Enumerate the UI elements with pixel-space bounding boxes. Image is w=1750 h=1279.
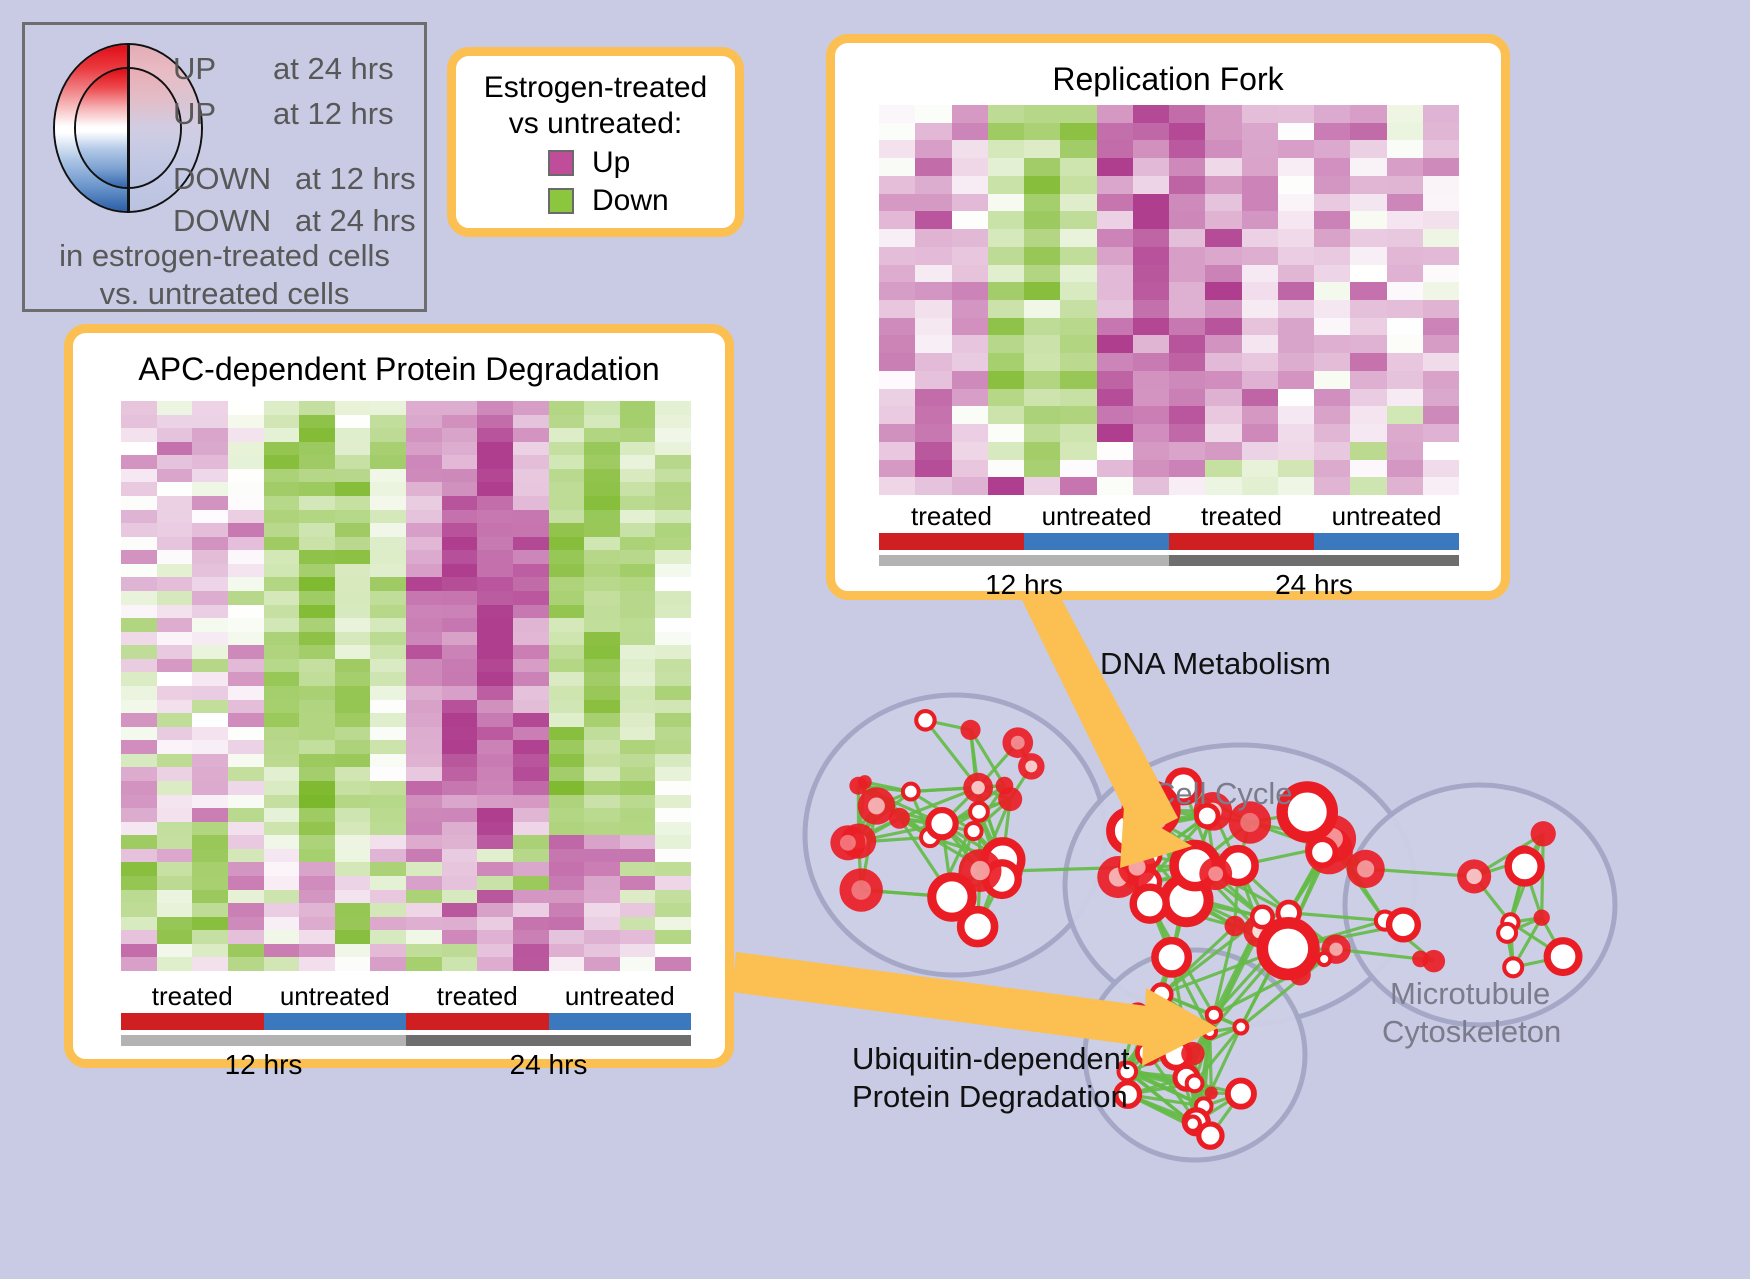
- heatmap-cell: [370, 849, 406, 863]
- network-node: [1531, 821, 1556, 846]
- heatmap-cell: [1097, 282, 1133, 300]
- network-node-ring: [1186, 1117, 1200, 1131]
- heatmap-cell: [1278, 389, 1314, 407]
- heatmap-cell: [620, 577, 656, 591]
- network-node-core: [1329, 943, 1342, 956]
- heatmap-cell: [157, 428, 193, 442]
- heatmap-cell: [121, 605, 157, 619]
- heatmap-cell: [620, 808, 656, 822]
- heatmap-cell: [1097, 247, 1133, 265]
- heatmap-cell: [584, 455, 620, 469]
- heatmap-cell: [335, 672, 371, 686]
- heatmap-cell: [1350, 300, 1386, 318]
- network-node-ring: [1199, 1124, 1222, 1147]
- heatmap-cell: [192, 727, 228, 741]
- rf-bar-treated-12: [879, 533, 1024, 550]
- heatmap-cell: [477, 496, 513, 510]
- network-node: [1205, 1086, 1218, 1099]
- heatmap-cell: [1387, 140, 1423, 158]
- network-node-ring: [1228, 1081, 1254, 1107]
- heatmap-cell: [192, 944, 228, 958]
- heatmap-cell: [620, 510, 656, 524]
- heatmap-cell: [264, 713, 300, 727]
- heatmap-cell: [335, 903, 371, 917]
- heatmap-cell: [1133, 460, 1169, 478]
- heatmap-cell: [620, 727, 656, 741]
- heatmap-cell: [655, 862, 691, 876]
- heatmap-cell: [121, 957, 157, 971]
- network-node-ring: [1137, 1042, 1158, 1063]
- heatmap-cell: [299, 415, 335, 429]
- network-node-ring: [970, 803, 988, 821]
- heatmap-cell: [655, 754, 691, 768]
- cmap-time-down-24: at 24 hrs: [295, 205, 416, 236]
- heatmap-cell: [442, 917, 478, 931]
- heatmap-cell: [549, 401, 585, 415]
- heatmap-cell: [121, 428, 157, 442]
- heatmap-cell: [1169, 176, 1205, 194]
- heatmap-cell: [406, 523, 442, 537]
- heatmap-cell: [264, 672, 300, 686]
- heatmap-cell: [121, 591, 157, 605]
- heatmap-cell: [1278, 371, 1314, 389]
- heatmap-cell: [1314, 194, 1350, 212]
- heatmap-cell: [655, 415, 691, 429]
- heatmap-cell: [477, 537, 513, 551]
- heatmap-cell: [1350, 123, 1386, 141]
- heatmap-cell: [1350, 389, 1386, 407]
- heatmap-cell: [1169, 335, 1205, 353]
- heatmap-cell: [1387, 194, 1423, 212]
- heatmap-cell: [157, 767, 193, 781]
- heatmap-cell: [442, 700, 478, 714]
- heatmap-cell: [477, 727, 513, 741]
- heatmap-cell: [879, 123, 915, 141]
- up-swatch-icon: [548, 150, 574, 176]
- network-node-core: [851, 880, 871, 900]
- heatmap-cell: [1133, 300, 1169, 318]
- heatmap-cell: [335, 550, 371, 564]
- network-node-ring: [1187, 1075, 1203, 1091]
- heatmap-cell: [1024, 140, 1060, 158]
- heatmap-cell: [1423, 460, 1459, 478]
- heatmap-cell: [879, 194, 915, 212]
- heatmap-cell: [1024, 105, 1060, 123]
- heatmap-cell: [406, 876, 442, 890]
- heatmap-cell: [121, 917, 157, 931]
- heatmap-cell: [477, 605, 513, 619]
- heatmap-cell: [620, 672, 656, 686]
- network-node-ring: [1318, 953, 1330, 965]
- heatmap-cell: [513, 415, 549, 429]
- heatmap-cell: [406, 510, 442, 524]
- rf-time-labels: 12 hrs 24 hrs: [879, 569, 1459, 601]
- heatmap-cell: [121, 727, 157, 741]
- heatmap-cell: [655, 727, 691, 741]
- heatmap-cell: [549, 645, 585, 659]
- heatmap-cell: [157, 659, 193, 673]
- heatmap-cell: [406, 727, 442, 741]
- heatmap-cell: [915, 460, 951, 478]
- heatmap-cell: [1024, 389, 1060, 407]
- heatmap-cell: [228, 415, 264, 429]
- heatmap-cell: [406, 537, 442, 551]
- heatmap-cell: [1205, 442, 1241, 460]
- heatmap-cell: [406, 754, 442, 768]
- heatmap-cell: [513, 455, 549, 469]
- heatmap-cell: [442, 523, 478, 537]
- heatmap-cell: [442, 428, 478, 442]
- heatmap-cell: [1242, 406, 1278, 424]
- heatmap-cell: [121, 401, 157, 415]
- heatmap-cell: [584, 727, 620, 741]
- cmap-state-up-12: UP: [173, 98, 216, 129]
- heatmap-cell: [406, 890, 442, 904]
- heatmap-cell: [513, 645, 549, 659]
- heatmap-cell: [1242, 318, 1278, 336]
- heatmap-cell: [620, 415, 656, 429]
- heatmap-cell: [620, 890, 656, 904]
- heatmap-cell: [620, 523, 656, 537]
- heatmap-cell: [299, 740, 335, 754]
- heatmap-cell: [655, 808, 691, 822]
- heatmap-cell: [157, 890, 193, 904]
- heatmap-cell: [1024, 371, 1060, 389]
- heatmap-cell: [1314, 335, 1350, 353]
- heatmap-cell: [513, 469, 549, 483]
- heatmap-cell: [442, 455, 478, 469]
- heatmap-cell: [1133, 194, 1169, 212]
- heatmap-cell: [1169, 353, 1205, 371]
- heatmap-cell: [299, 442, 335, 456]
- heatmap-cell: [121, 862, 157, 876]
- heatmap-cell: [299, 795, 335, 809]
- heatmap-cell: [1242, 371, 1278, 389]
- heatmap-cell: [1097, 477, 1133, 495]
- heatmap-cell: [1242, 265, 1278, 283]
- heatmap-cell: [620, 876, 656, 890]
- heatmap-cell: [1097, 335, 1133, 353]
- heatmap-cell: [549, 686, 585, 700]
- heatmap-cell: [477, 822, 513, 836]
- heatmap-cell: [1387, 424, 1423, 442]
- network-node-ring: [1262, 923, 1314, 975]
- heatmap-cell: [584, 944, 620, 958]
- heatmap-cell: [1278, 318, 1314, 336]
- heatmap-cell: [584, 672, 620, 686]
- heatmap-cell: [370, 591, 406, 605]
- heatmap-cell: [1423, 477, 1459, 495]
- heatmap-cell: [988, 158, 1024, 176]
- heatmap-cell: [584, 767, 620, 781]
- heatmap-cell: [1387, 300, 1423, 318]
- heatmap-cell: [442, 808, 478, 822]
- heatmap-cell: [192, 700, 228, 714]
- apc-bar-untreated-12: [264, 1013, 407, 1030]
- heatmap-cell: [406, 957, 442, 971]
- heatmap-cell: [1060, 105, 1096, 123]
- heatmap-cell: [584, 849, 620, 863]
- heatmap-cell: [442, 510, 478, 524]
- heatmap-cell: [157, 700, 193, 714]
- heatmap-cell: [952, 460, 988, 478]
- heatmap-cell: [1169, 371, 1205, 389]
- heatmap-cell: [915, 477, 951, 495]
- heatmap-cell: [406, 645, 442, 659]
- heatmap-cell: [1242, 335, 1278, 353]
- heatmap-cell: [1314, 371, 1350, 389]
- heatmap-cell: [192, 537, 228, 551]
- apc-bar-treated-12: [121, 1013, 264, 1030]
- heatmap-cell: [192, 442, 228, 456]
- heatmap-cell: [549, 564, 585, 578]
- heatmap-cell: [915, 371, 951, 389]
- heatmap-cell: [228, 659, 264, 673]
- heatmap-cell: [335, 523, 371, 537]
- heatmap-cell: [228, 510, 264, 524]
- heatmap-cell: [264, 510, 300, 524]
- heatmap-cell: [655, 903, 691, 917]
- heatmap-cell: [620, 849, 656, 863]
- heatmap-cell: [299, 849, 335, 863]
- heatmap-cell: [1278, 282, 1314, 300]
- heatmap-cell: [192, 903, 228, 917]
- heatmap-cell: [406, 455, 442, 469]
- heatmap-cell: [121, 632, 157, 646]
- heatmap-cell: [1278, 460, 1314, 478]
- heatmap-cell: [1169, 442, 1205, 460]
- heatmap-cell: [584, 482, 620, 496]
- heatmap-cell: [1060, 123, 1096, 141]
- heatmap-cell: [264, 605, 300, 619]
- heatmap-cell: [1278, 442, 1314, 460]
- heatmap-cell: [1387, 158, 1423, 176]
- heatmap-cell: [513, 686, 549, 700]
- heatmap-cell: [1242, 176, 1278, 194]
- heatmap-cell: [192, 401, 228, 415]
- estrogen-legend-panel: Estrogen-treated vs untreated: Up Down: [447, 47, 744, 237]
- heatmap-cell: [264, 822, 300, 836]
- heatmap-cell: [1278, 477, 1314, 495]
- heatmap-cell: [549, 659, 585, 673]
- heatmap-cell: [299, 890, 335, 904]
- heatmap-cell: [228, 957, 264, 971]
- heatmap-cell: [157, 442, 193, 456]
- heatmap-cell: [157, 917, 193, 931]
- apc-cond-1: untreated: [264, 981, 407, 1012]
- heatmap-cell: [1097, 389, 1133, 407]
- rf-time-bars: [879, 555, 1459, 566]
- network-node-core: [1466, 869, 1481, 884]
- heatmap-cell: [1350, 477, 1386, 495]
- heatmap-cell: [879, 442, 915, 460]
- heatmap-cell: [442, 862, 478, 876]
- heatmap-cell: [370, 808, 406, 822]
- heatmap-cell: [549, 455, 585, 469]
- heatmap-cell: [370, 795, 406, 809]
- heatmap-cell: [442, 415, 478, 429]
- apc-condition-labels: treated untreated treated untreated: [121, 981, 691, 1012]
- heatmap-cell: [406, 605, 442, 619]
- heatmap-cell: [620, 618, 656, 632]
- legend-label-up: Up: [592, 148, 630, 178]
- heatmap-cell: [988, 105, 1024, 123]
- heatmap-cell: [655, 496, 691, 510]
- heatmap-cell: [879, 265, 915, 283]
- heatmap-cell: [192, 835, 228, 849]
- heatmap-cell: [1097, 406, 1133, 424]
- heatmap-cell: [442, 605, 478, 619]
- heatmap-cell: [1387, 211, 1423, 229]
- network-node-ring: [916, 711, 934, 729]
- heatmap-cell: [228, 686, 264, 700]
- heatmap-cell: [1278, 194, 1314, 212]
- heatmap-cell: [1133, 442, 1169, 460]
- heatmap-cell: [406, 808, 442, 822]
- heatmap-cell: [121, 442, 157, 456]
- cluster-label-dna-metabolism: DNA Metabolism: [1100, 645, 1331, 683]
- heatmap-cell: [1097, 353, 1133, 371]
- heatmap-cell: [1278, 353, 1314, 371]
- heatmap-cell: [335, 808, 371, 822]
- heatmap-cell: [915, 335, 951, 353]
- heatmap-cell: [335, 862, 371, 876]
- heatmap-cell: [584, 754, 620, 768]
- heatmap-cell: [477, 781, 513, 795]
- heatmap-cell: [1242, 105, 1278, 123]
- heatmap-cell: [1423, 300, 1459, 318]
- network-node: [1225, 916, 1246, 937]
- heatmap-cell: [620, 537, 656, 551]
- heatmap-cell: [406, 917, 442, 931]
- heatmap-cell: [477, 930, 513, 944]
- heatmap-cell: [1350, 140, 1386, 158]
- heatmap-cell: [157, 550, 193, 564]
- cluster-label-cytoskeleton: Cytoskeleton: [1382, 1013, 1561, 1051]
- heatmap-cell: [192, 605, 228, 619]
- heatmap-cell: [620, 781, 656, 795]
- heatmap-cell: [1133, 176, 1169, 194]
- heatmap-cell: [121, 822, 157, 836]
- heatmap-cell: [513, 876, 549, 890]
- heatmap-cell: [406, 713, 442, 727]
- heatmap-cell: [879, 371, 915, 389]
- heatmap-cell: [1314, 318, 1350, 336]
- heatmap-cell: [299, 713, 335, 727]
- heatmap-cell: [442, 876, 478, 890]
- heatmap-cell: [121, 469, 157, 483]
- heatmap-cell: [477, 700, 513, 714]
- heatmap-cell: [228, 401, 264, 415]
- heatmap-cell: [1024, 477, 1060, 495]
- heatmap-cell: [264, 415, 300, 429]
- heatmap-cell: [1133, 211, 1169, 229]
- heatmap-cell: [121, 740, 157, 754]
- heatmap-cell: [264, 944, 300, 958]
- heatmap-cell: [477, 835, 513, 849]
- heatmap-cell: [549, 890, 585, 904]
- heatmap-cell: [584, 605, 620, 619]
- heatmap-cell: [1314, 176, 1350, 194]
- heatmap-cell: [952, 265, 988, 283]
- heatmap-cell: [549, 469, 585, 483]
- heatmap-cell: [988, 300, 1024, 318]
- heatmap-cell: [655, 686, 691, 700]
- heatmap-cell: [228, 550, 264, 564]
- heatmap-cell: [1097, 371, 1133, 389]
- heatmap-cell: [121, 455, 157, 469]
- heatmap-cell: [655, 482, 691, 496]
- heatmap-cell: [157, 577, 193, 591]
- heatmap-cell: [477, 428, 513, 442]
- heatmap-cell: [1314, 389, 1350, 407]
- heatmap-cell: [1205, 282, 1241, 300]
- heatmap-cell: [1169, 406, 1205, 424]
- heatmap-cell: [264, 428, 300, 442]
- heatmap-cell: [264, 686, 300, 700]
- network-node-ring: [1504, 958, 1522, 976]
- heatmap-cell: [655, 781, 691, 795]
- heatmap-cell: [228, 605, 264, 619]
- heatmap-cell: [299, 754, 335, 768]
- network-node-ring: [1204, 1026, 1216, 1038]
- heatmap-cell: [157, 564, 193, 578]
- heatmap-cell: [121, 618, 157, 632]
- heatmap-cell: [299, 957, 335, 971]
- heatmap-cell: [121, 808, 157, 822]
- heatmap-cell: [299, 577, 335, 591]
- heatmap-cell: [335, 795, 371, 809]
- heatmap-cell: [584, 903, 620, 917]
- heatmap-cell: [264, 700, 300, 714]
- heatmap-cell: [335, 659, 371, 673]
- heatmap-cell: [335, 930, 371, 944]
- heatmap-cell: [442, 781, 478, 795]
- heatmap-cell: [952, 406, 988, 424]
- heatmap-cell: [1242, 247, 1278, 265]
- heatmap-cell: [1387, 282, 1423, 300]
- heatmap-cell: [655, 632, 691, 646]
- heatmap-cell: [655, 469, 691, 483]
- heatmap-cell: [952, 477, 988, 495]
- heatmap-cell: [879, 477, 915, 495]
- heatmap-cell: [1169, 300, 1205, 318]
- heatmap-cell: [1060, 265, 1096, 283]
- heatmap-cell: [879, 105, 915, 123]
- legend-title-line1: Estrogen-treated: [456, 70, 735, 106]
- heatmap-cell: [1278, 211, 1314, 229]
- heatmap-cell: [655, 659, 691, 673]
- cmap-state-up-24: UP: [173, 53, 216, 84]
- heatmap-cell: [513, 822, 549, 836]
- heatmap-cell: [513, 713, 549, 727]
- heatmap-cell: [192, 957, 228, 971]
- heatmap-cell: [442, 944, 478, 958]
- heatmap-cell: [1133, 247, 1169, 265]
- heatmap-cell: [549, 944, 585, 958]
- heatmap-cell: [477, 944, 513, 958]
- heatmap-cell: [121, 849, 157, 863]
- heatmap-cell: [406, 659, 442, 673]
- heatmap-cell: [192, 876, 228, 890]
- network-node-core: [971, 781, 984, 794]
- heatmap-cell: [335, 591, 371, 605]
- heatmap-cell: [335, 781, 371, 795]
- network-node-ring: [1389, 911, 1418, 940]
- heatmap-cell: [915, 442, 951, 460]
- heatmap-cell: [157, 618, 193, 632]
- heatmap-cell: [335, 564, 371, 578]
